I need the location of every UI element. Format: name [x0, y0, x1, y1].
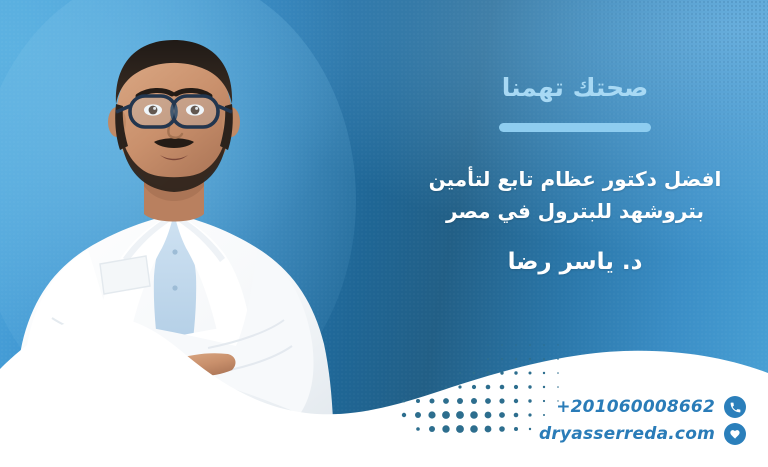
- website-url[interactable]: dryasserreda.com: [539, 424, 715, 444]
- heart-icon[interactable]: [724, 423, 746, 445]
- phone-number[interactable]: +201060008662: [556, 397, 715, 417]
- doctor-photo: [0, 0, 368, 467]
- contact-block: +201060008662 dryasserreda.com: [539, 396, 746, 445]
- doctor-name: د. ياسر رضا: [382, 249, 768, 275]
- ad-banner: صحتك تهمنا افضل دكتور عظام تابع لتأمين ب…: [0, 0, 768, 467]
- headline-text: افضل دكتور عظام تابع لتأمين بتروشهد للبت…: [382, 163, 768, 228]
- contact-row-phone[interactable]: +201060008662: [556, 396, 746, 418]
- phone-icon[interactable]: [724, 396, 746, 418]
- eyebrow-heading: صحتك تهمنا: [382, 74, 768, 102]
- banner-copy: صحتك تهمنا افضل دكتور عظام تابع لتأمين ب…: [382, 0, 768, 275]
- contact-row-website[interactable]: dryasserreda.com: [539, 423, 746, 445]
- heading-divider-bar: [499, 123, 651, 132]
